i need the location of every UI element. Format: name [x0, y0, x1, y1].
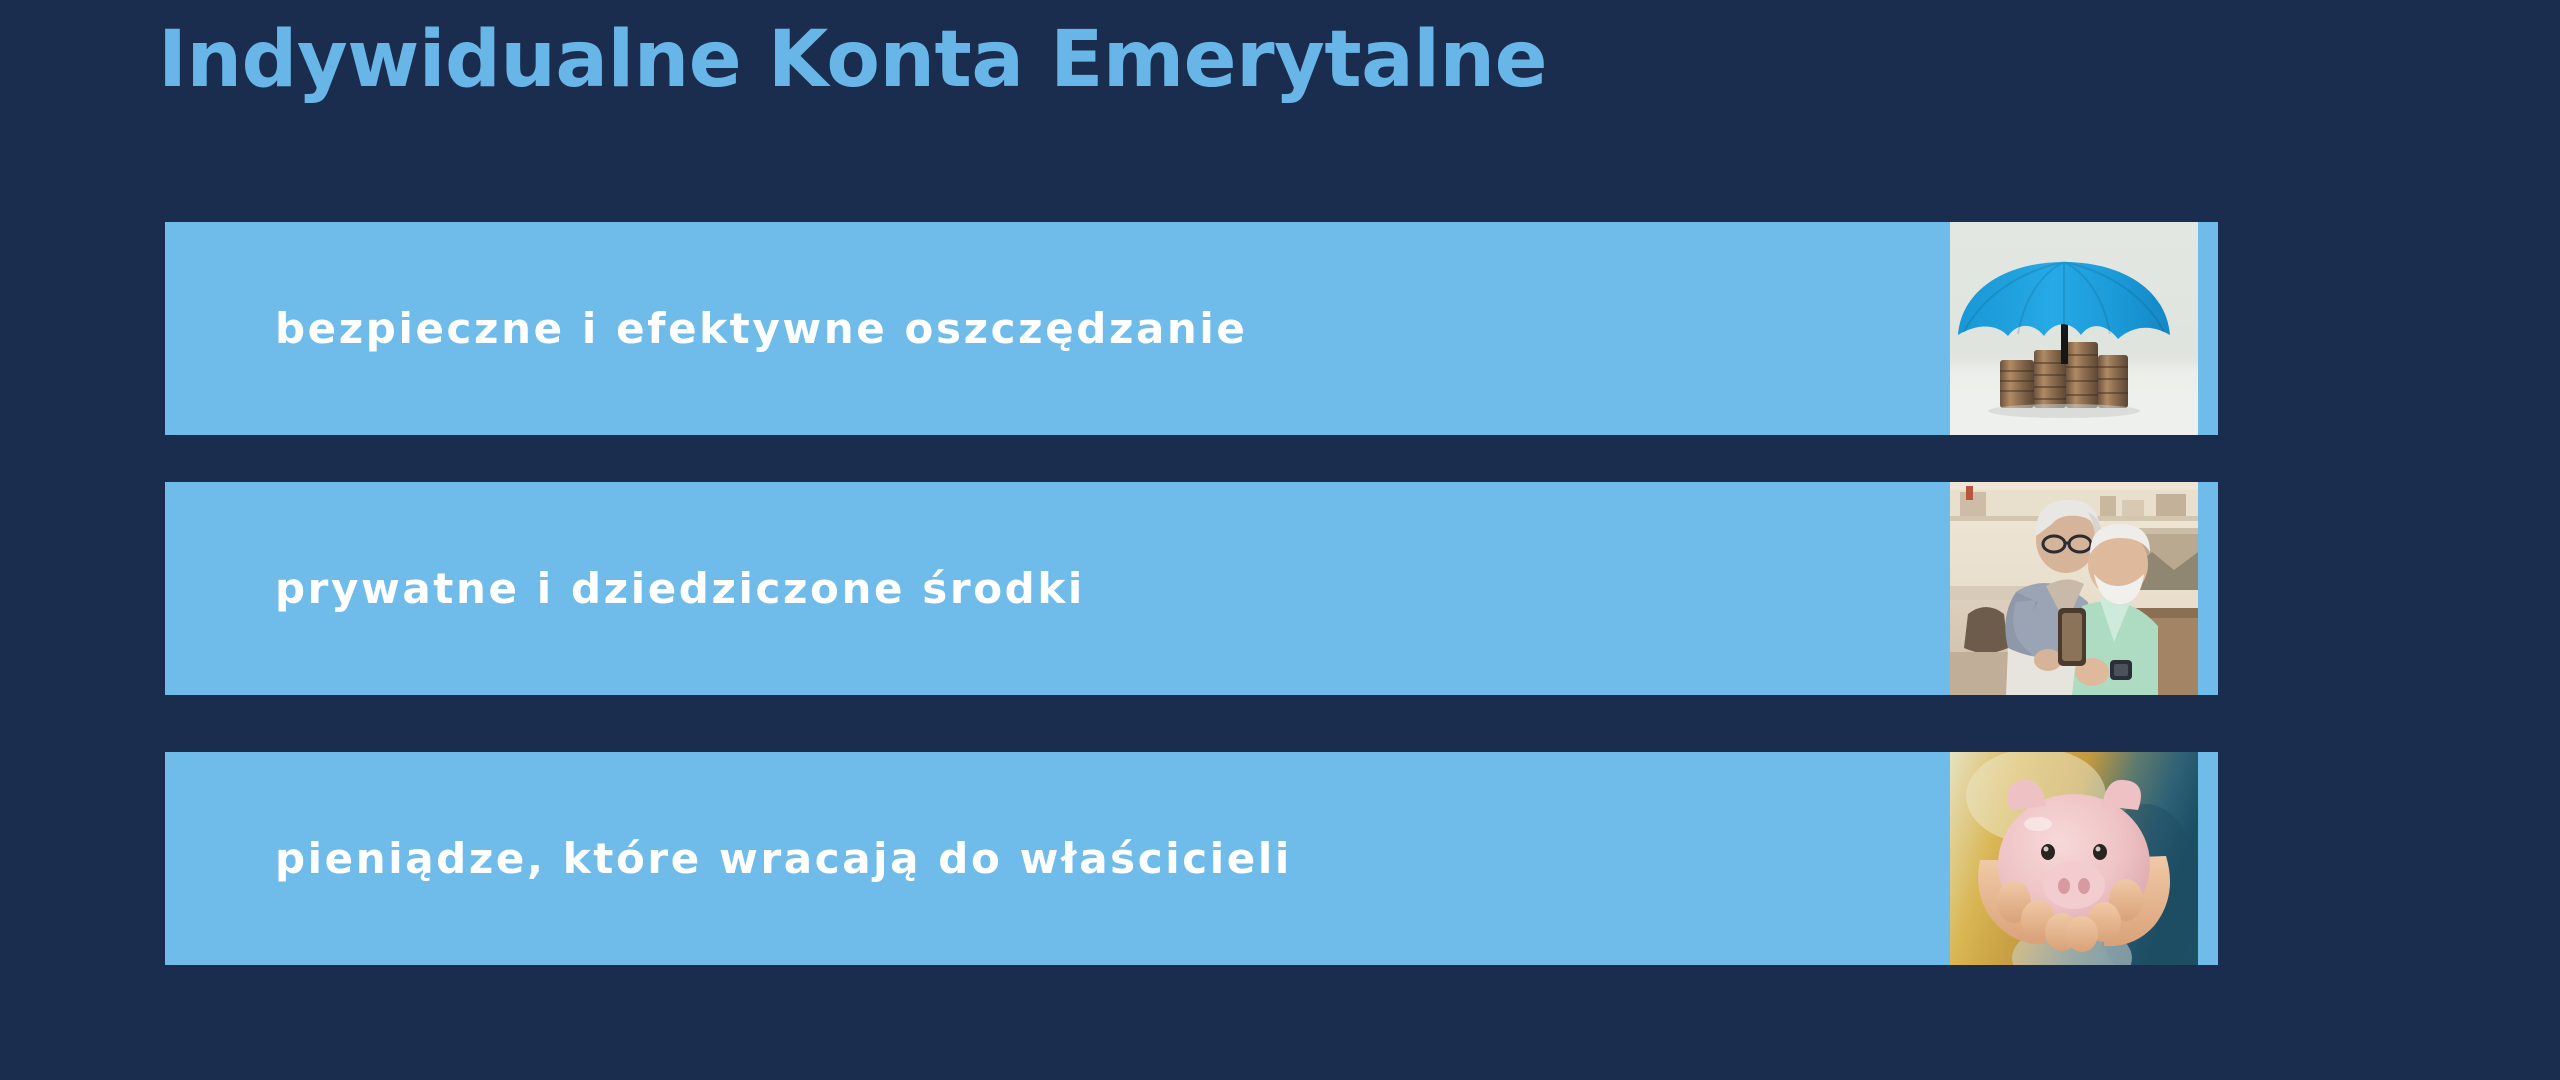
hands-holding-piggy-bank-photo [1950, 752, 2198, 965]
feature-bar-1-label: bezpieczne i efektywne oszczędzanie [165, 304, 1248, 353]
feature-bar-1[interactable]: bezpieczne i efektywne oszczędzanie [165, 222, 2218, 435]
feature-bar-3[interactable]: pieniądze, które wracają do właścicieli [165, 752, 2218, 965]
slide-canvas: Indywidualne Konta Emerytalne bezpieczne… [0, 0, 2560, 1080]
feature-bar-2[interactable]: prywatne i dziedziczone środki [165, 482, 2218, 695]
page-title: Indywidualne Konta Emerytalne [158, 18, 1547, 102]
feature-bar-3-label: pieniądze, które wracają do właścicieli [165, 834, 1292, 883]
senior-couple-with-phone-photo [1950, 482, 2198, 695]
umbrella-over-coin-stacks-photo [1950, 222, 2198, 435]
feature-bar-2-label: prywatne i dziedziczone środki [165, 564, 1085, 613]
